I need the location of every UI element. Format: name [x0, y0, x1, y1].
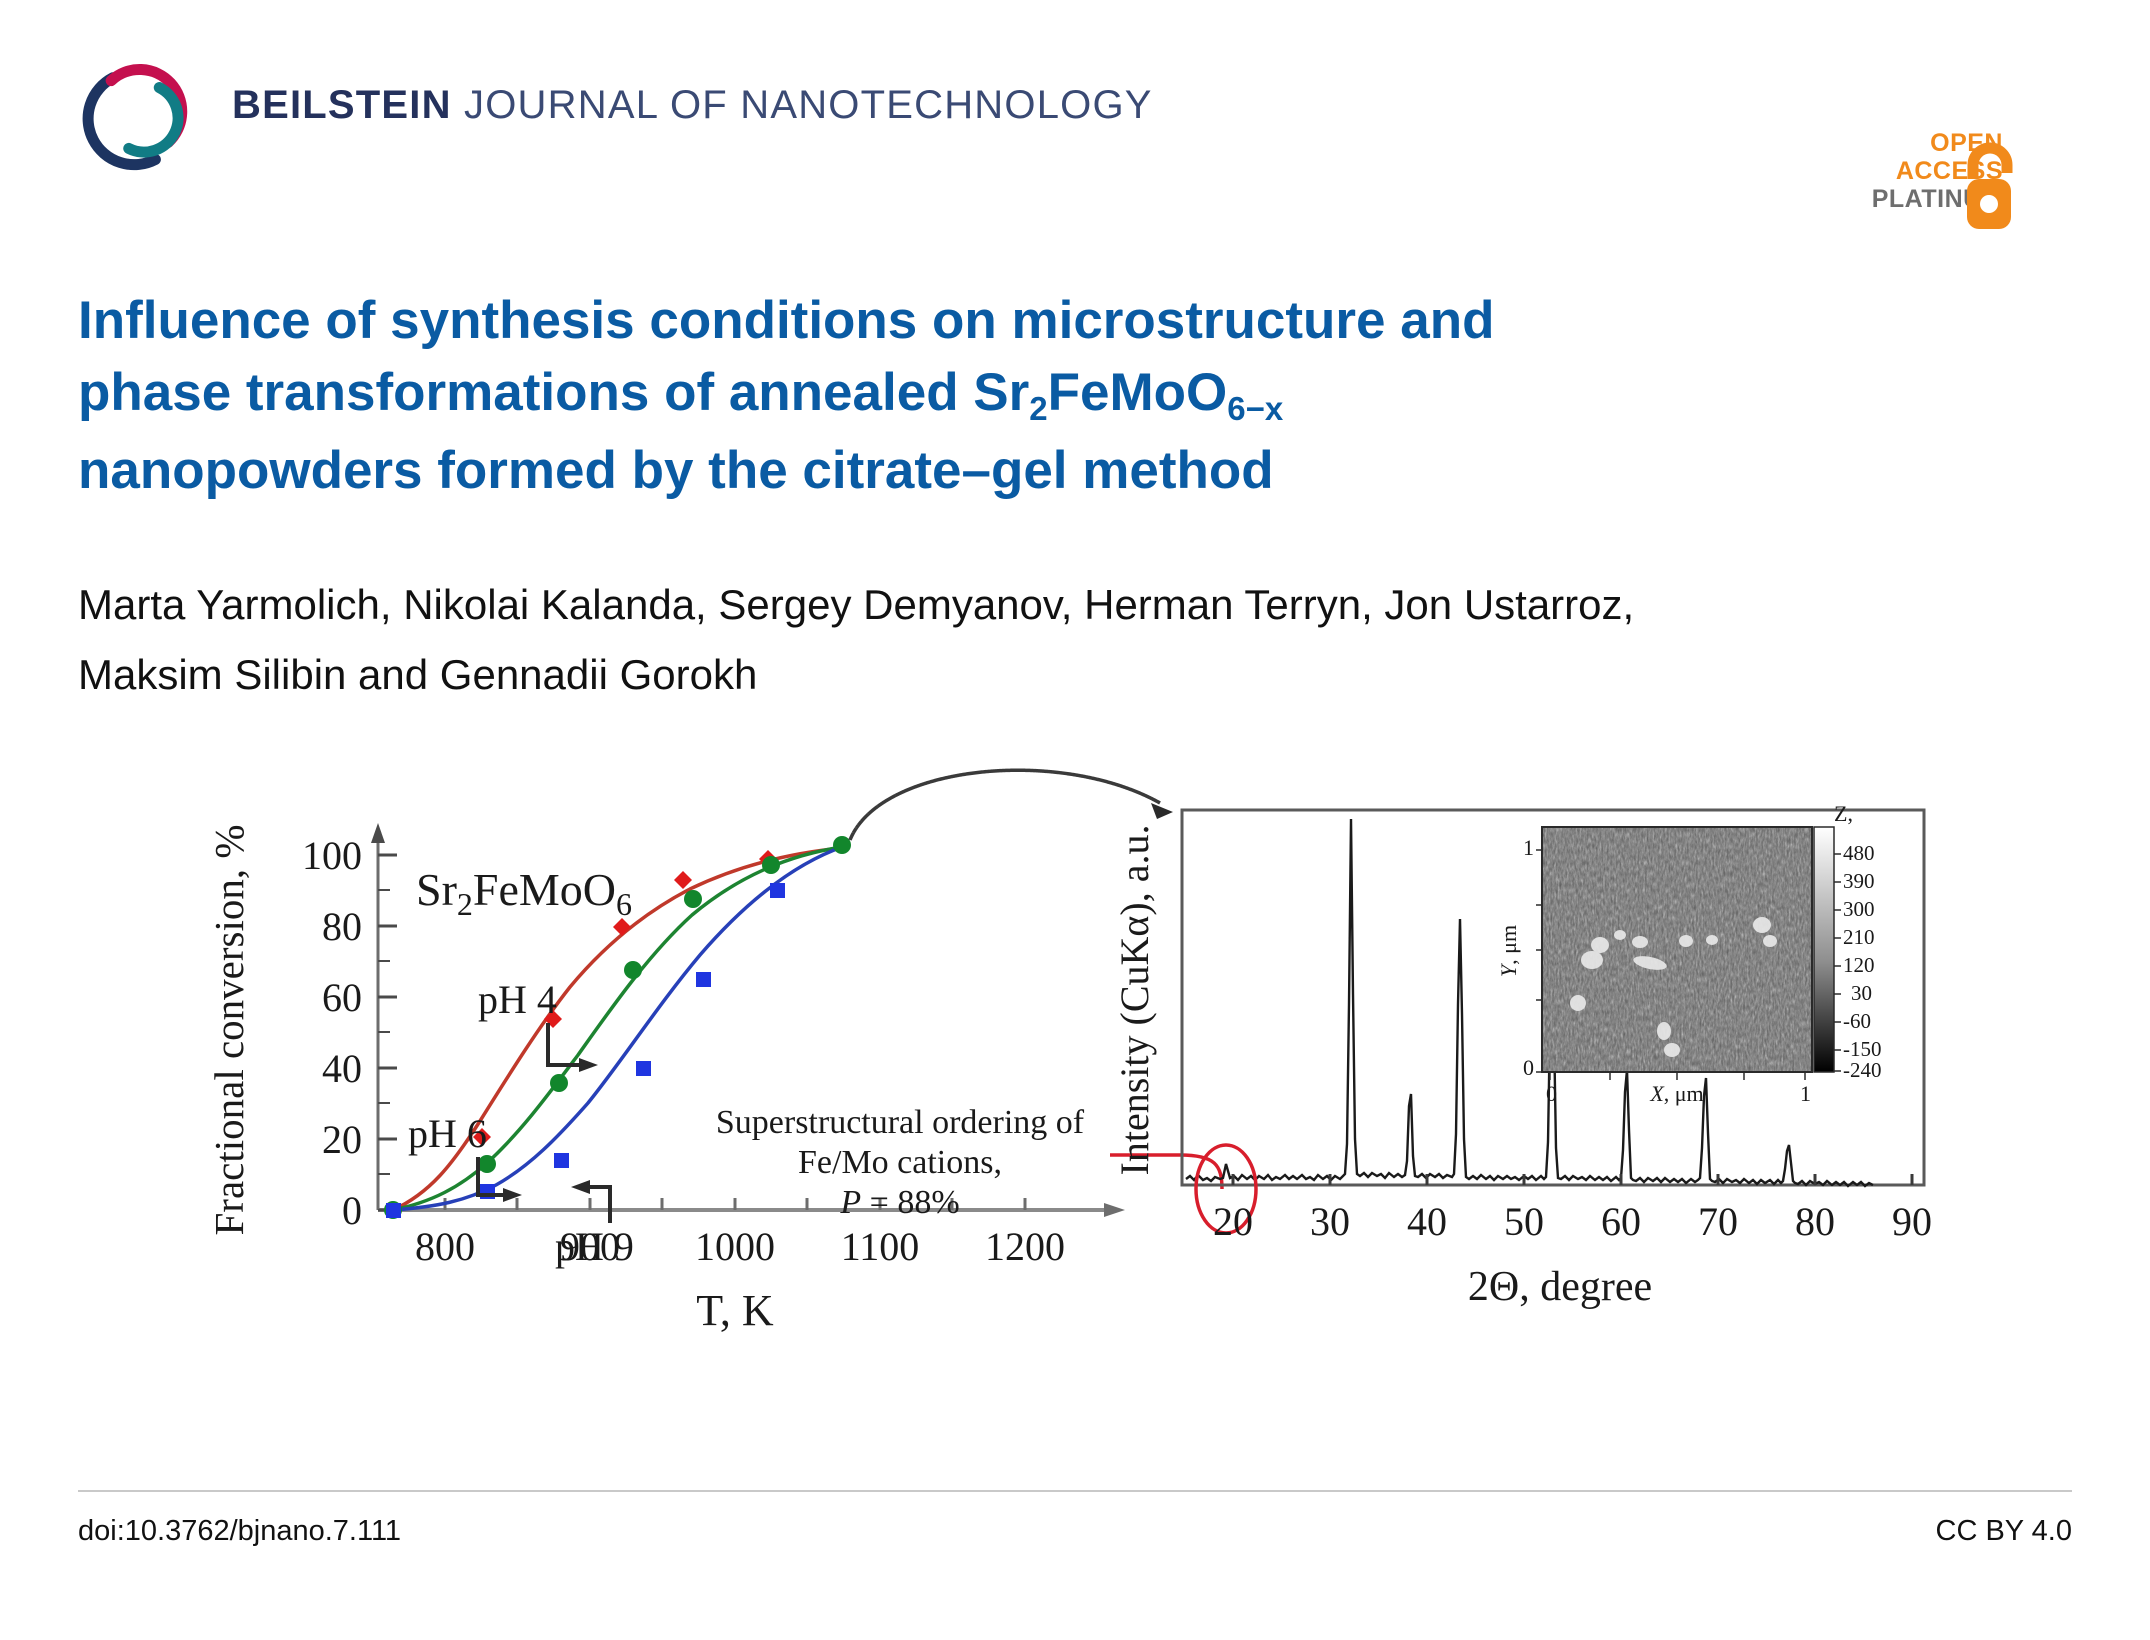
svg-text:1000: 1000: [695, 1224, 775, 1269]
afm-colorbar-ticks: 480 390 300 210 120 30 -60 -150 -240: [1843, 841, 1882, 1082]
svg-text:60: 60: [322, 975, 362, 1020]
title-line-2: phase transformations of annealed Sr2FeM…: [78, 357, 1978, 435]
annotation-ph4-label: pH 4: [478, 977, 557, 1022]
journal-brand: BEILSTEIN: [232, 83, 452, 127]
svg-text:70: 70: [1698, 1199, 1738, 1244]
footer-divider: [78, 1490, 2072, 1492]
svg-text:800: 800: [415, 1224, 475, 1269]
open-access-badge: OPEN ACCESS PLATINUM: [1815, 63, 2085, 173]
svg-text:20: 20: [322, 1117, 362, 1162]
afm-colorbar-title: Z,: [1834, 801, 1853, 826]
title-line-3: nanopowders formed by the citrate–gel me…: [78, 435, 1978, 507]
superstructural-note-line3: P = 88%: [839, 1184, 959, 1221]
x-axis-label: T, K: [696, 1286, 774, 1335]
svg-text:30: 30: [1851, 981, 1872, 1005]
svg-text:-60: -60: [1843, 1009, 1871, 1033]
svg-text:210: 210: [1843, 925, 1875, 949]
xrd-y-axis-label: Intensity (CuKα), a.u.: [1112, 825, 1157, 1176]
svg-text:30: 30: [1310, 1199, 1350, 1244]
beilstein-logo: [80, 62, 200, 172]
y-axis-label: Fractional conversion, %: [206, 824, 252, 1235]
page-title: Influence of synthesis conditions on mic…: [78, 285, 1978, 507]
svg-text:480: 480: [1843, 841, 1875, 865]
svg-text:1: 1: [1800, 1081, 1811, 1106]
afm-inset: Z, 480 390 300 210 120 30 -60 -150 -240: [1496, 801, 1882, 1106]
svg-text:X, μm: X, μm: [1649, 1081, 1703, 1106]
authors-line-1: Marta Yarmolich, Nikolai Kalanda, Sergey…: [78, 570, 2038, 640]
svg-text:40: 40: [322, 1046, 362, 1091]
superstructural-note: Superstructural ordering of Fe/Mo cation…: [716, 1104, 1085, 1221]
svg-text:1200: 1200: [985, 1224, 1065, 1269]
svg-text:50: 50: [1504, 1199, 1544, 1244]
formula-sub-2: 2: [1029, 390, 1047, 427]
svg-text:0: 0: [342, 1188, 362, 1233]
svg-text:80: 80: [1795, 1199, 1835, 1244]
annotation-ph4: pH 4: [478, 977, 598, 1072]
svg-text:1100: 1100: [841, 1224, 920, 1269]
title-line-2-a: phase transformations of annealed Sr: [78, 363, 1029, 422]
figure-canvas: 100 80 60 40 20 0 Fractional conversion,…: [0, 755, 2150, 1435]
xrd-x-axis-tick-labels: 20 30 40 50 60 70 80 90: [1213, 1199, 1932, 1244]
x-axis-tick-labels: 800 900 1000 1100 1200: [415, 1224, 1065, 1269]
author-list: Marta Yarmolich, Nikolai Kalanda, Sergey…: [78, 570, 2038, 710]
superstructural-note-line1: Superstructural ordering of: [716, 1104, 1085, 1141]
page-header: BEILSTEIN JOURNAL OF NANOTECHNOLOGY OPEN…: [0, 0, 2150, 185]
svg-text:0: 0: [1523, 1055, 1534, 1080]
afm-colorbar: [1814, 827, 1834, 1072]
doi-text: doi:10.3762/bjnano.7.111: [78, 1515, 401, 1548]
svg-text:120: 120: [1843, 953, 1875, 977]
plot-compound-label: Sr2FeMoO6: [416, 864, 632, 922]
journal-name-rest: JOURNAL OF NANOTECHNOLOGY: [464, 83, 1153, 127]
annotation-ph6-label: pH 6: [408, 1111, 487, 1156]
license-text: CC BY 4.0: [1936, 1515, 2072, 1548]
superstructural-note-line2: Fe/Mo cations,: [798, 1144, 1002, 1181]
y-axis-tick-labels: 100 80 60 40 20 0: [302, 833, 362, 1233]
svg-text:300: 300: [1843, 897, 1875, 921]
svg-text:Y, μm: Y, μm: [1496, 925, 1521, 977]
authors-line-2: Maksim Silibin and Gennadii Gorokh: [78, 640, 2038, 710]
formula-sub-6x: 6−x: [1227, 390, 1283, 427]
svg-text:390: 390: [1843, 869, 1875, 893]
svg-text:40: 40: [1407, 1199, 1447, 1244]
open-padlock-icon: [1953, 135, 2023, 235]
svg-text:100: 100: [302, 833, 362, 878]
svg-text:-240: -240: [1843, 1058, 1882, 1082]
annotation-ph9: pH 9: [555, 1180, 634, 1269]
annotation-ph9-label: pH 9: [555, 1224, 634, 1269]
title-line-1: Influence of synthesis conditions on mic…: [78, 285, 1978, 357]
title-line-2-b: FeMoO: [1048, 363, 1228, 422]
xrd-x-axis-label: 2Θ, degree: [1468, 1264, 1652, 1310]
svg-text:0: 0: [1546, 1081, 1557, 1106]
svg-text:1: 1: [1523, 835, 1534, 860]
svg-text:60: 60: [1601, 1199, 1641, 1244]
fractional-conversion-plot: 100 80 60 40 20 0 Fractional conversion,…: [206, 823, 1125, 1335]
svg-text:20: 20: [1213, 1199, 1253, 1244]
svg-text:80: 80: [322, 904, 362, 949]
svg-text:90: 90: [1892, 1199, 1932, 1244]
graphical-abstract-figure: 100 80 60 40 20 0 Fractional conversion,…: [0, 755, 2150, 1435]
journal-title: BEILSTEIN JOURNAL OF NANOTECHNOLOGY: [232, 83, 1153, 128]
